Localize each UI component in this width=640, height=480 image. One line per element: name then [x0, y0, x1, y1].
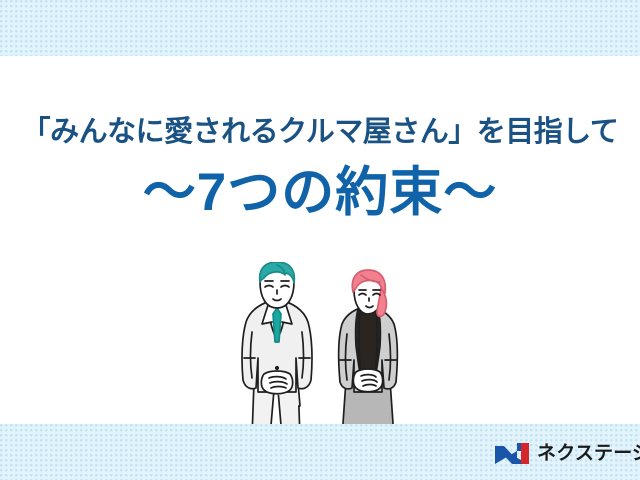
female-staff-figure: [339, 270, 398, 438]
two-bowing-staff-illustration: [228, 262, 428, 440]
top-dot-band: [0, 0, 640, 56]
nextage-n-mark-icon: [494, 441, 530, 466]
headline-secondary: 〜7つの約束〜: [0, 161, 640, 225]
banner-canvas: 「みんなに愛されるクルマ屋さん」を目指して 〜7つの約束〜: [0, 0, 640, 480]
headline-block: 「みんなに愛されるクルマ屋さん」を目指して 〜7つの約束〜: [0, 110, 640, 225]
male-staff-figure: [242, 262, 312, 437]
brand-logo-text: ネクステージ: [537, 444, 640, 463]
headline-primary: 「みんなに愛されるクルマ屋さん」を目指して: [0, 110, 640, 154]
brand-logo: ネクステージ: [494, 438, 640, 468]
